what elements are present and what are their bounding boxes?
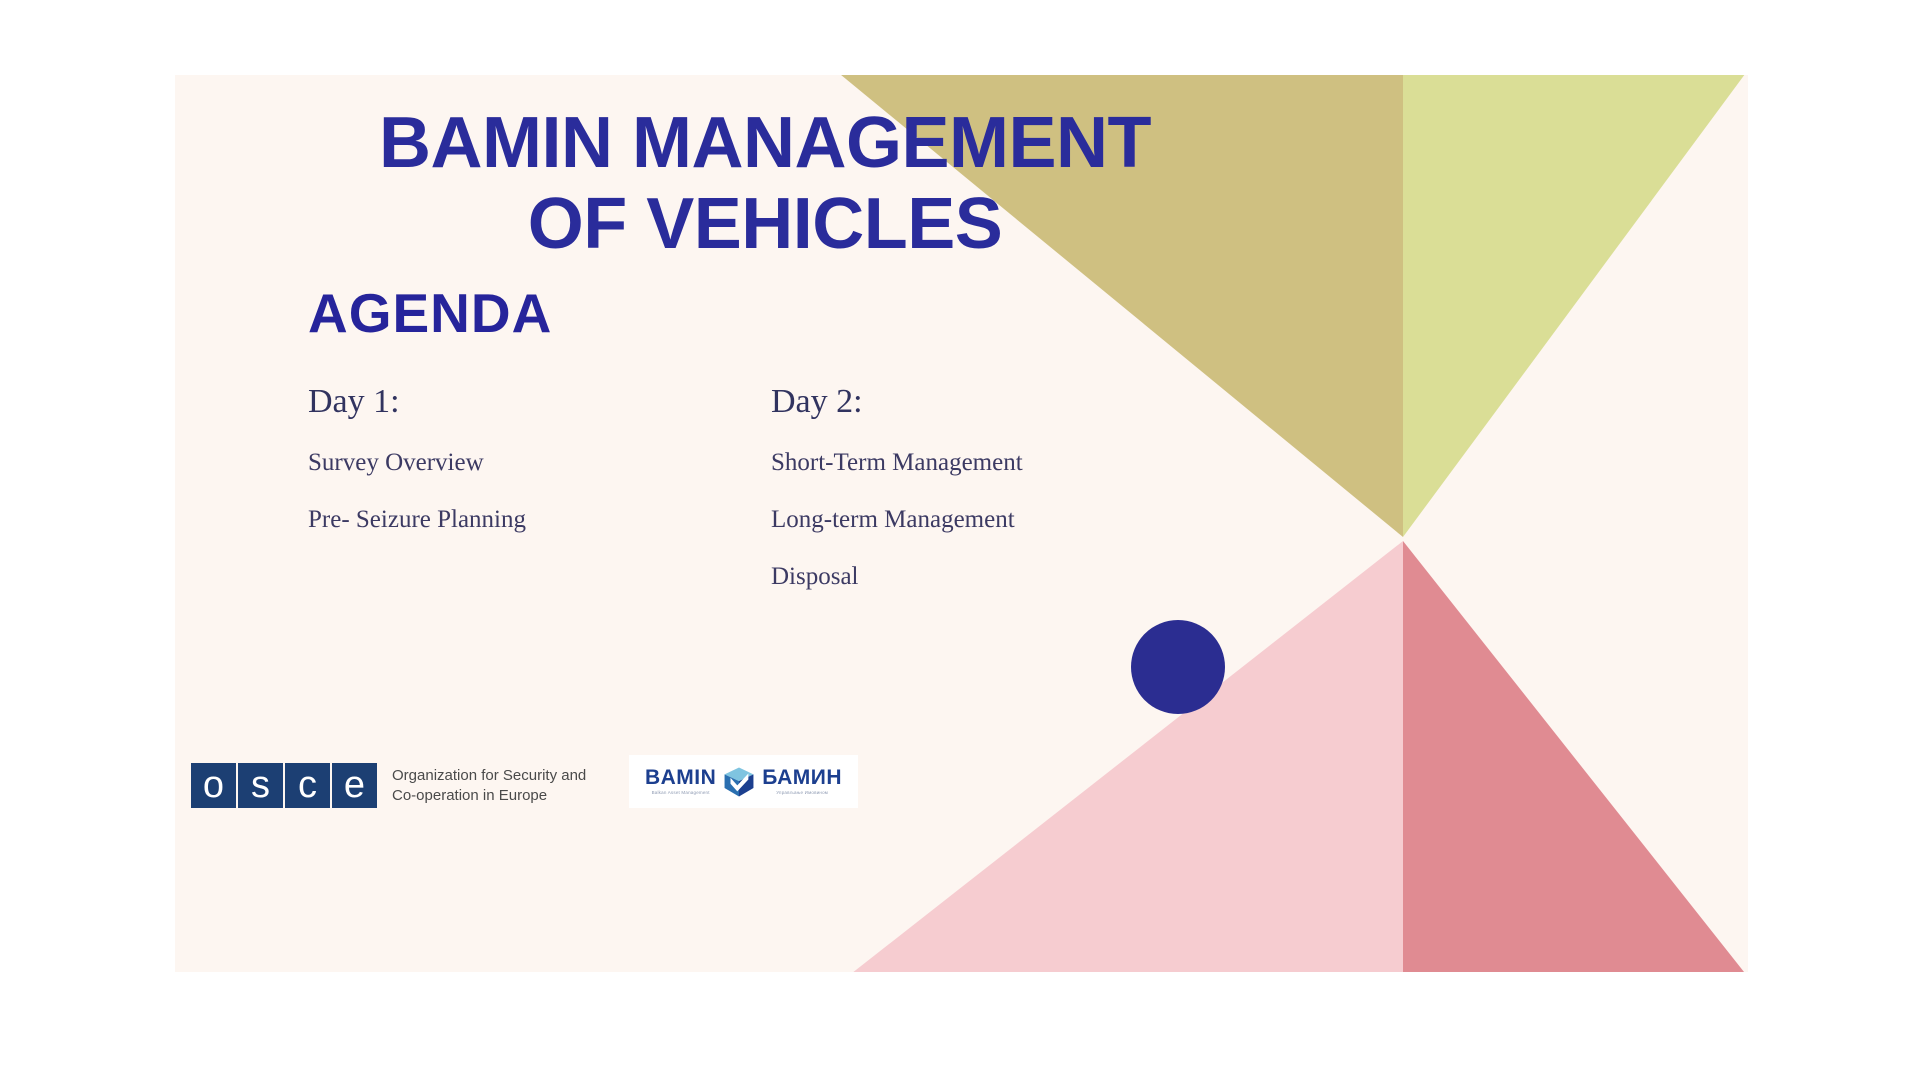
agenda-item: Pre- Seizure Planning [308,506,608,535]
agenda-column-day2: Day 2: Short-Term Management Long-term M… [771,385,1071,619]
bamin-latin-subtitle: Balkan Asset Management [652,791,710,796]
bamin-cyrillic-wordmark: БАМИН Управљање Имовином [762,767,842,796]
triangle-top-right [1403,75,1748,537]
triangle-bottom-right [1403,541,1748,972]
osce-letter-c: c [285,763,330,808]
agenda-item: Short-Term Management [771,449,1071,478]
blue-circle-accent [1131,620,1225,714]
bamin-cyrillic-subtitle: Управљање Имовином [776,791,828,796]
agenda-item: Survey Overview [308,449,608,478]
agenda-item: Long-term Management [771,506,1071,535]
bamin-logo: BAMIN Balkan Asset Management БАМИН Упра… [629,755,858,808]
agenda-item: Disposal [771,563,1071,592]
agenda-column-day1: Day 1: Survey Overview Pre- Seizure Plan… [308,385,608,619]
agenda-heading: AGENDA [308,281,552,345]
bamin-latin-name: BAMIN [645,767,716,788]
day2-label: Day 2: [771,385,1071,419]
osce-logo: o s c e Organization for Security and Co… [183,753,594,818]
presentation-slide: BAMIN MANAGEMENT OF VEHICLES AGENDA Day … [175,75,1748,972]
day1-label: Day 1: [308,385,608,419]
bamin-cyrillic-name: БАМИН [762,767,842,788]
osce-letter-s: s [238,763,283,808]
bamin-latin-wordmark: BAMIN Balkan Asset Management [645,767,716,796]
osce-letter-o: o [191,763,236,808]
osce-tagline: Organization for Security and Co-operati… [392,766,586,804]
osce-logo-mark: o s c e [191,763,379,808]
bamin-cube-checkmark-icon [722,765,756,799]
agenda-columns: Day 1: Survey Overview Pre- Seizure Plan… [308,385,1071,619]
osce-letter-e: e [332,763,377,808]
page-title: BAMIN MANAGEMENT OF VEHICLES [175,103,1355,264]
title-block: BAMIN MANAGEMENT OF VEHICLES [175,103,1355,264]
